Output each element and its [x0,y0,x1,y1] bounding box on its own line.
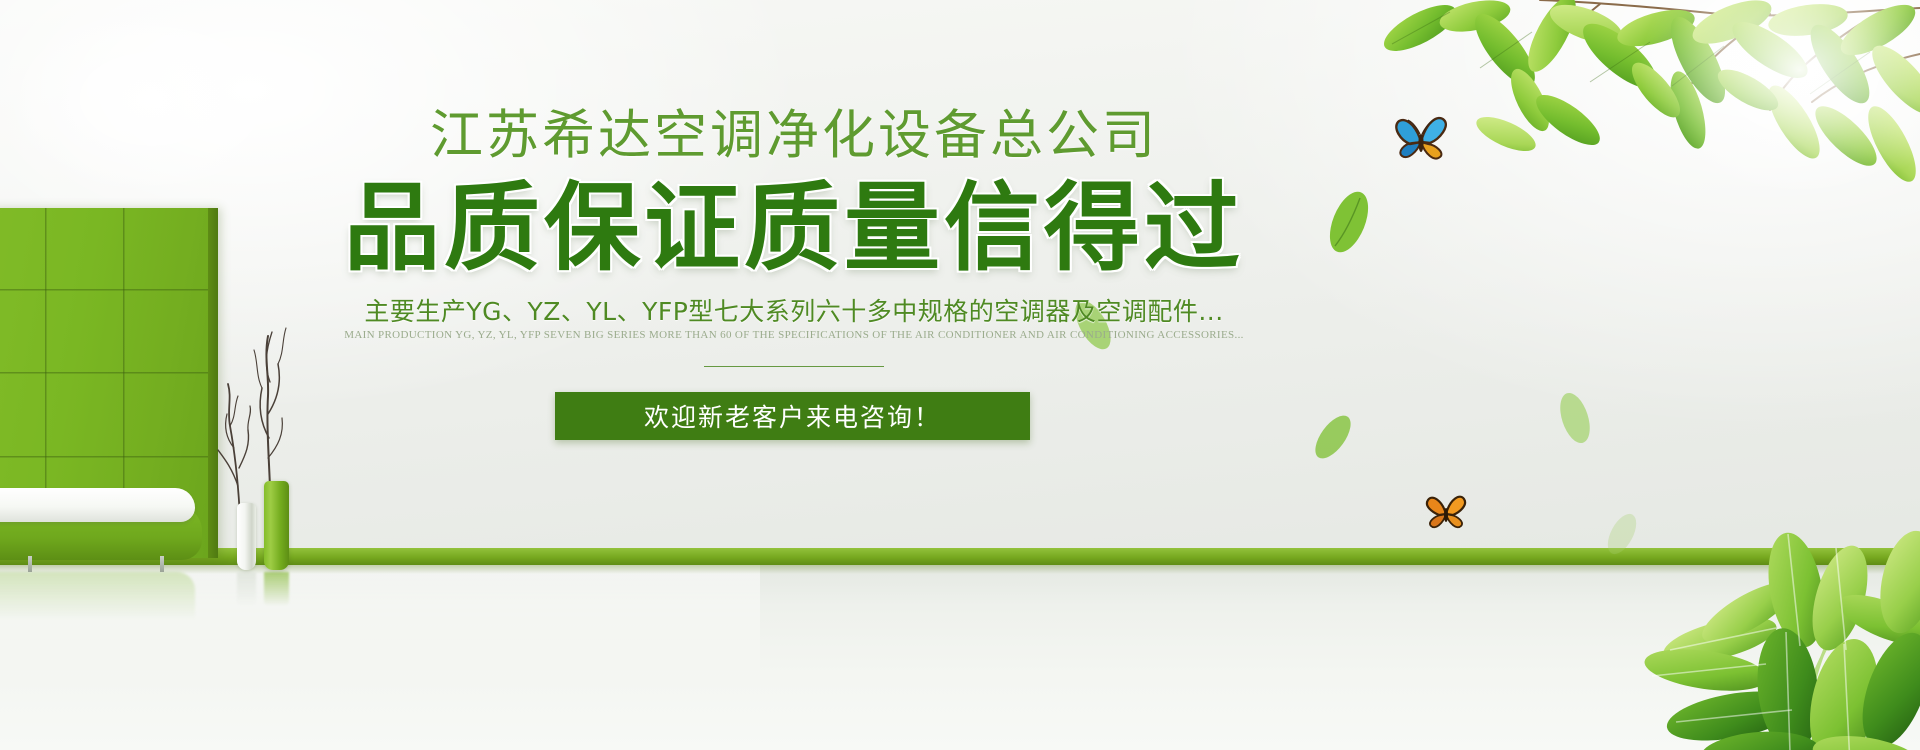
falling-leaf-icon [1552,390,1598,446]
green-vase-reflection [264,572,289,606]
product-description-chinese: 主要生产YG、YZ、YL、YFP型七大系列六十多中规格的空调器及空调配件... [0,295,1588,329]
product-description-english: MAIN PRODUCTION YG, YZ, YL, YFP SEVEN BI… [0,328,1588,343]
sofa-leg [28,556,32,572]
contact-cta-button[interactable]: 欢迎新老客户来电咨询！ [555,392,1030,440]
sofa-cushion [0,488,195,522]
orange-butterfly-icon [1424,492,1468,534]
sofa-leg [160,556,164,572]
green-floor-vase [264,481,289,570]
text-divider [704,366,884,367]
company-subtitle: 江苏希达空调净化设备总公司 [0,108,1588,164]
sofa-floor-reflection [0,572,195,620]
potted-green-plant-icon [1600,464,1920,750]
white-floor-vase [237,503,256,570]
falling-leaf-icon [1312,410,1354,464]
banner-headline: 品质保证质量信得过 [0,178,1588,280]
hero-banner: 江苏希达空调净化设备总公司 品质保证质量信得过 主要生产YG、YZ、YL、YFP… [0,0,1920,750]
white-vase-reflection [237,572,256,606]
